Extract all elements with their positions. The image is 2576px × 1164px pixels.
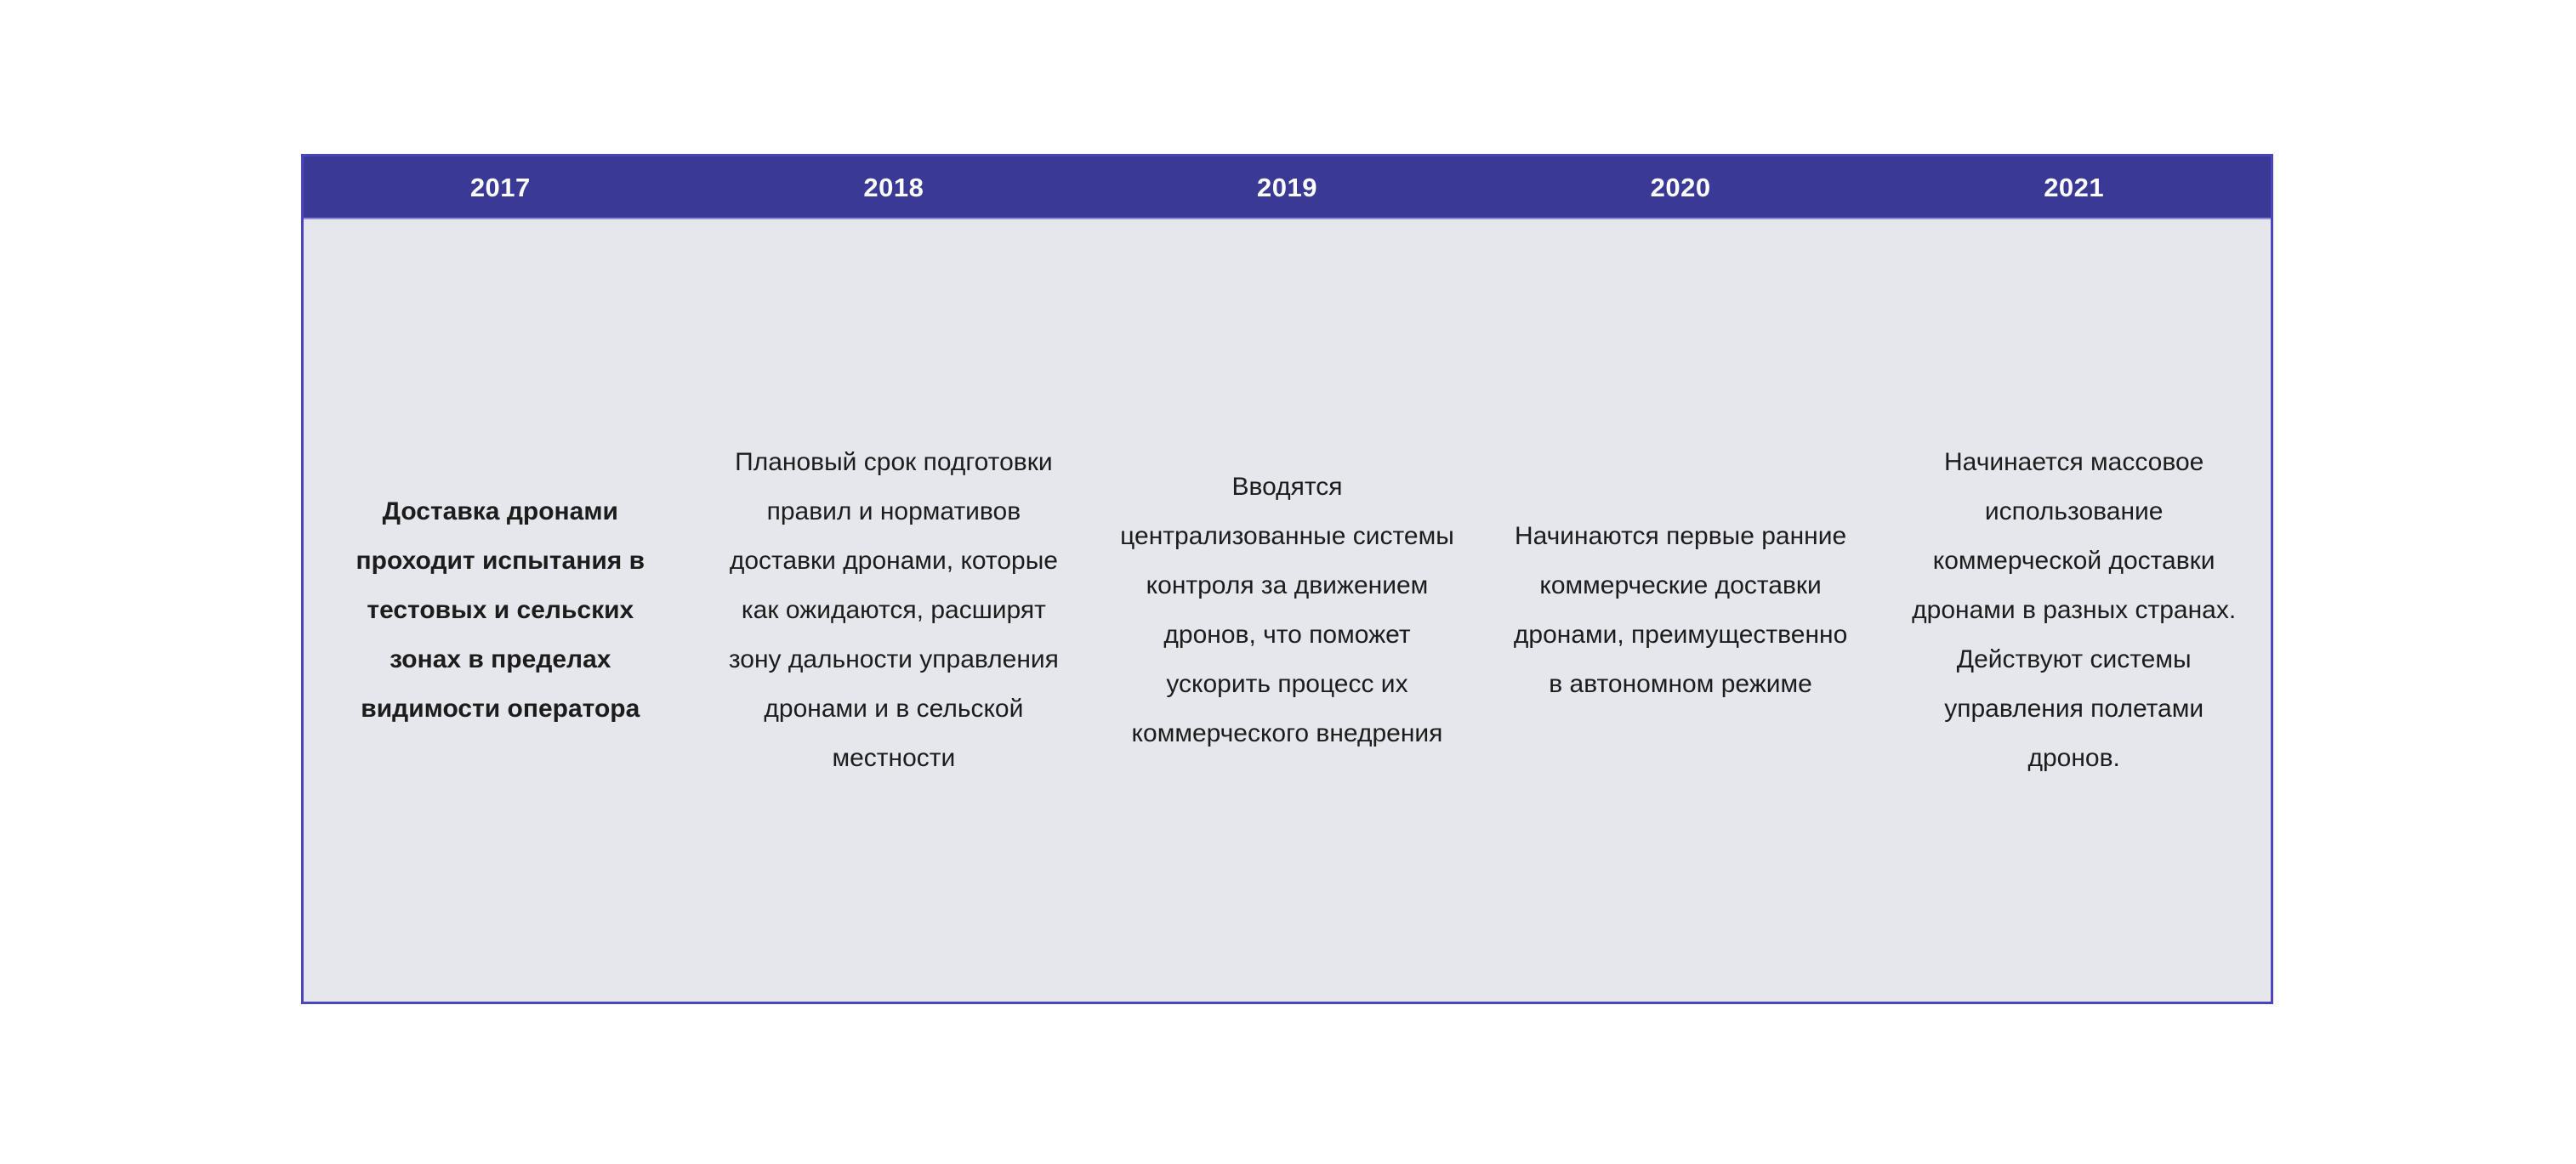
timeline-header-cell-2018: 2018 (697, 156, 1091, 218)
timeline-body-cell-2020: Начинаются первые ранние коммерческие до… (1484, 219, 1878, 1002)
timeline-header-cell-2020: 2020 (1484, 156, 1878, 218)
year-label-2021: 2021 (2044, 174, 2104, 201)
timeline-description-2018: Плановый срок подготовки правил и нормат… (726, 438, 1062, 783)
timeline-description-2020: Начинаются первые ранние коммерческие до… (1513, 512, 1849, 709)
timeline-header-row: 2017 2018 2019 2020 2021 (304, 156, 2271, 219)
timeline-body-cell-2019: Вводятся централизованные системы контро… (1090, 219, 1484, 1002)
timeline-header-cell-2021: 2021 (1877, 156, 2271, 218)
timeline-body-cell-2021: Начинается массовое использование коммер… (1877, 219, 2271, 1002)
timeline-description-2021: Начинается массовое использование коммер… (1906, 438, 2242, 783)
timeline-table: 2017 2018 2019 2020 2021 Доставка дронам… (301, 154, 2273, 1004)
timeline-description-2019: Вводятся централизованные системы контро… (1119, 463, 1455, 758)
year-label-2020: 2020 (1651, 174, 1711, 201)
year-label-2017: 2017 (470, 174, 531, 201)
year-label-2019: 2019 (1257, 174, 1317, 201)
timeline-description-2017: Доставка дронами проходит испытания в те… (338, 487, 662, 734)
timeline-header-cell-2019: 2019 (1090, 156, 1484, 218)
timeline-body-cell-2017: Доставка дронами проходит испытания в те… (304, 219, 697, 1002)
timeline-header-cell-2017: 2017 (304, 156, 697, 218)
timeline-body-row: Доставка дронами проходит испытания в те… (304, 219, 2271, 1002)
page-canvas: 2017 2018 2019 2020 2021 Доставка дронам… (0, 0, 2576, 1164)
timeline-body-cell-2018: Плановый срок подготовки правил и нормат… (697, 219, 1091, 1002)
year-label-2018: 2018 (863, 174, 924, 201)
